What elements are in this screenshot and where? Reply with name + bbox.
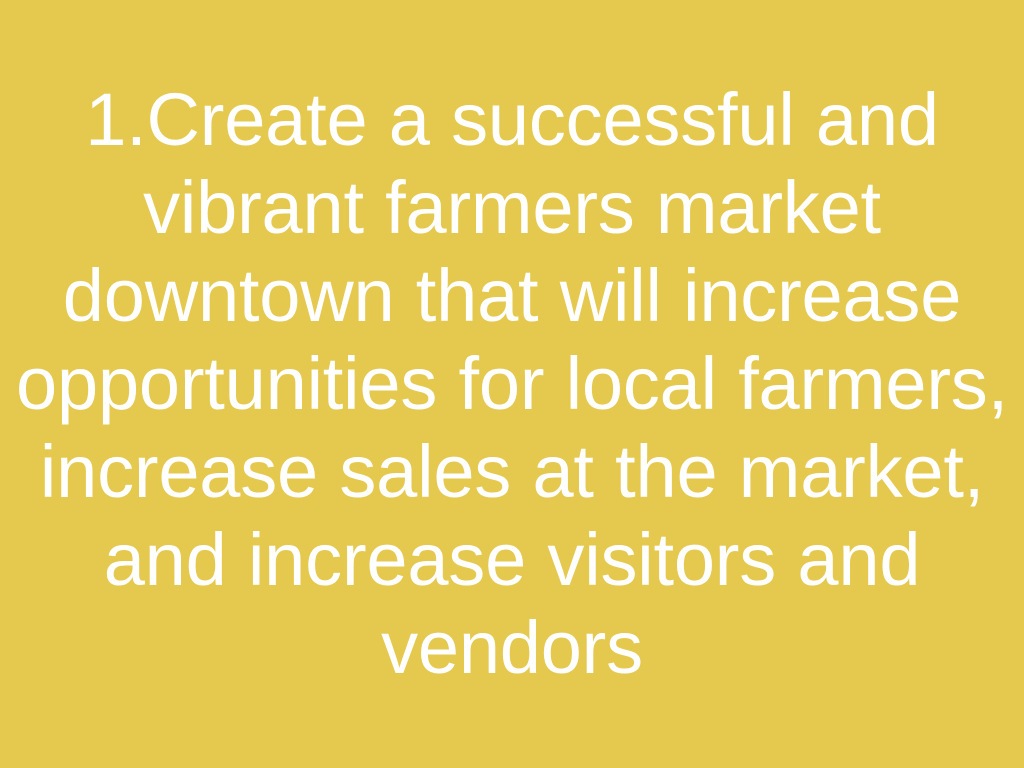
slide-canvas: 1.Create a successful and vibrant farmer… xyxy=(0,0,1024,768)
slide-headline: 1.Create a successful and vibrant farmer… xyxy=(8,76,1016,692)
slide-text-block: 1.Create a successful and vibrant farmer… xyxy=(0,76,1024,692)
